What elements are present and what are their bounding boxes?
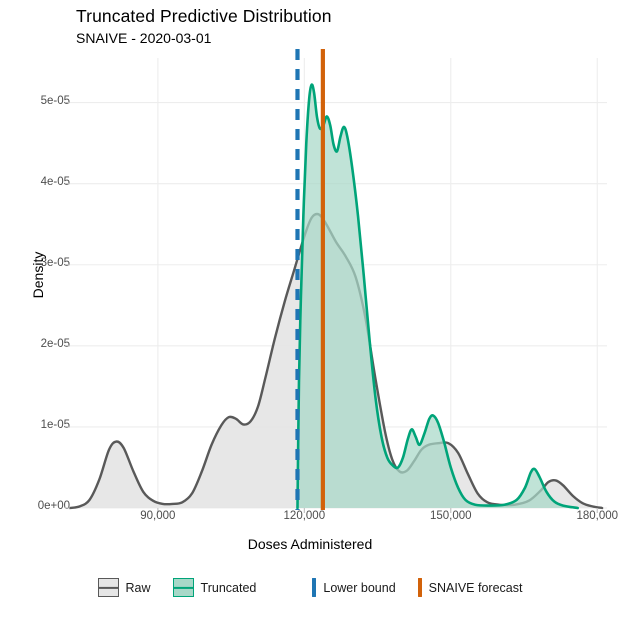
legend-label: SNAIVE forecast: [429, 581, 523, 595]
plot-area: [0, 0, 620, 625]
x-tick-label-1: 120,000: [284, 510, 326, 522]
legend-label: Raw: [126, 581, 151, 595]
legend-key-bar: [418, 578, 422, 597]
legend-key-line: [99, 586, 118, 588]
legend-key-line: [174, 586, 193, 588]
legend-item-raw[interactable]: Raw: [98, 578, 151, 597]
legend-item-lower-bound[interactable]: Lower bound: [312, 578, 395, 597]
chart-legend: RawTruncatedLower boundSNAIVE forecast: [0, 578, 620, 597]
x-tick-label-2: 150,000: [430, 510, 472, 522]
x-tick-label-0: 90,000: [140, 510, 175, 522]
legend-key-box: [173, 578, 194, 597]
chart-root: Truncated Predictive Distribution SNAIVE…: [0, 0, 620, 625]
legend-label: Truncated: [201, 581, 257, 595]
legend-item-snaive-forecast[interactable]: SNAIVE forecast: [418, 578, 523, 597]
legend-key-bar: [312, 578, 316, 597]
legend-key-box: [98, 578, 119, 597]
x-tick-label-3: 180,000: [576, 510, 618, 522]
legend-label: Lower bound: [323, 581, 395, 595]
legend-item-truncated[interactable]: Truncated: [173, 578, 257, 597]
